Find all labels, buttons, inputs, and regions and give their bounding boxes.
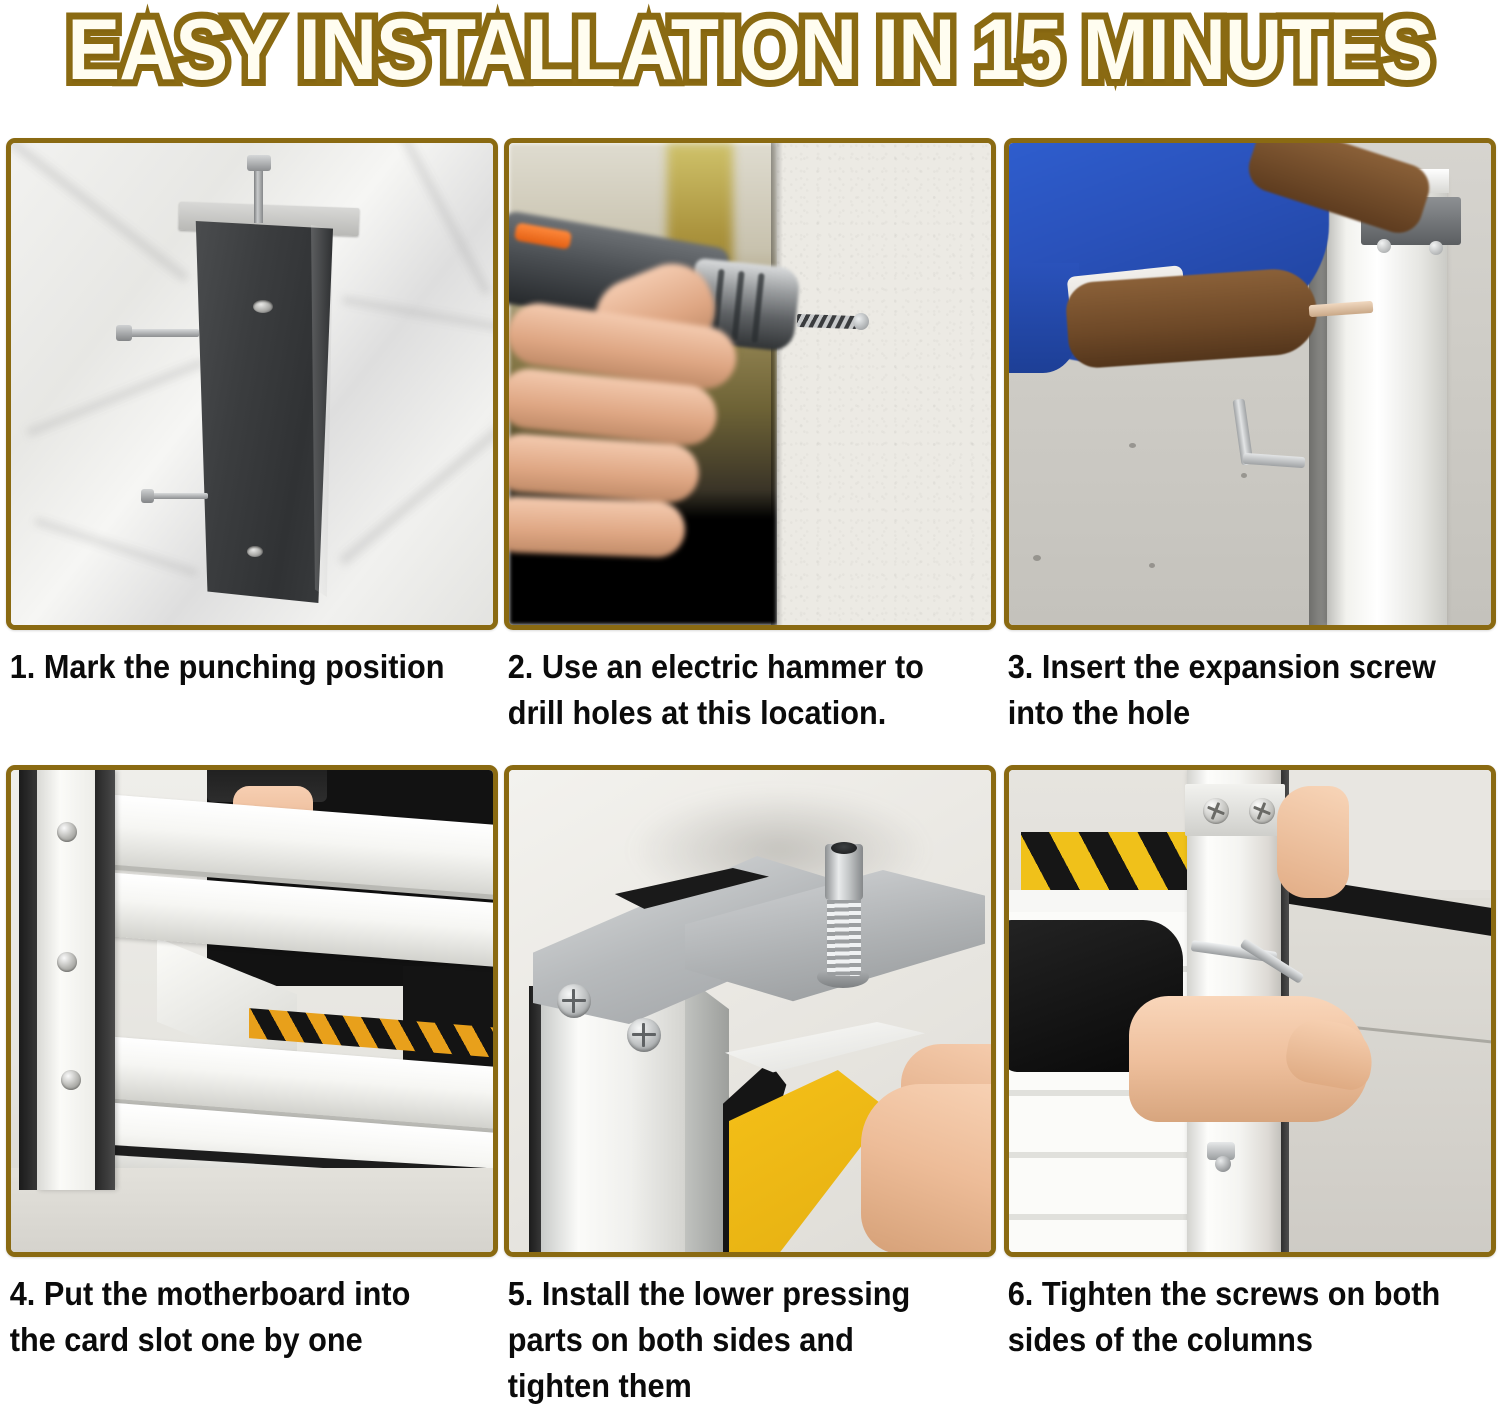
column-screw [57,952,77,972]
plate-screw [1377,239,1391,253]
floor-speck [1033,555,1041,561]
step-photo-5 [504,765,996,1257]
step-caption-4: 4. Put the motherboard into the card slo… [6,1271,464,1363]
bolt-head-lower [141,489,154,503]
rod-head [247,155,271,171]
step-card-1: 1. Mark the punching position [6,138,498,690]
bracket-screw [557,984,591,1018]
threaded-rod [254,163,263,223]
mounting-hole-upper [253,300,273,313]
step-card-5: 5. Install the lower pressing parts on b… [504,765,996,1409]
page-header: EASY INSTALLATION IN 15 MINUTES [0,0,1500,100]
plate-screw [1429,241,1443,255]
step-photo-3 [1004,138,1496,630]
lower-screw-head [1215,1156,1231,1172]
bracket-screw [627,1018,661,1052]
floor-speck [1241,473,1247,478]
column-screw [57,822,77,842]
board-white-edge [1009,890,1195,912]
bolt-threads [827,896,861,976]
floor-speck [1149,563,1155,568]
step-image-3 [1009,143,1491,625]
steps-grid: 1. Mark the punching position [0,100,1500,1403]
bolt-socket-hole [831,842,857,854]
bolt-head-upper [116,325,132,341]
step-photo-2 [504,138,996,630]
hazard-stripe-tape [1021,832,1193,890]
expansion-bolt-upper [121,329,199,337]
operator-hand [509,293,799,623]
step-caption-2: 2. Use an electric hammer to drill holes… [504,644,962,736]
step-image-2 [509,143,991,625]
page-title: EASY INSTALLATION IN 15 MINUTES [67,7,1432,93]
step-caption-5: 5. Install the lower pressing parts on b… [504,1271,962,1409]
step-image-4 [11,770,493,1252]
drill-bit-tip [853,313,869,330]
step-caption-1: 1. Mark the punching position [6,644,464,690]
step-caption-3: 3. Insert the expansion screw into the h… [1004,644,1462,736]
step-photo-6 [1004,765,1496,1257]
drill-bit [797,314,857,329]
white-column-face [541,982,685,1252]
step-card-4: 4. Put the motherboard into the card slo… [6,765,498,1363]
step-caption-6: 6. Tighten the screws on both sides of t… [1004,1271,1462,1363]
step-card-3: 3. Insert the expansion screw into the h… [1004,138,1496,736]
column-screw-left [1203,798,1229,824]
step-image-5 [509,770,991,1252]
step-card-2: 2. Use an electric hammer to drill holes… [504,138,996,736]
dark-post-body [187,221,333,603]
mounting-hole-lower [247,546,263,557]
step-photo-4 [6,765,498,1257]
finger [509,496,686,559]
white-column-side [685,976,729,1252]
textured-wall [777,143,991,625]
expansion-bolt-lower [146,493,208,499]
step-image-6 [1009,770,1491,1252]
step-photo-1 [6,138,498,630]
card-slot-channel [95,770,115,1190]
installer-hand [861,1084,991,1252]
steadying-hand [1277,786,1349,898]
column-screw-right [1249,798,1275,824]
column-dark-edge [19,770,39,1190]
step-image-1 [11,143,493,625]
step-card-6: 6. Tighten the screws on both sides of t… [1004,765,1496,1363]
column-screw [61,1070,81,1090]
worker-arm [1064,266,1319,369]
floor-speck [1129,443,1136,448]
